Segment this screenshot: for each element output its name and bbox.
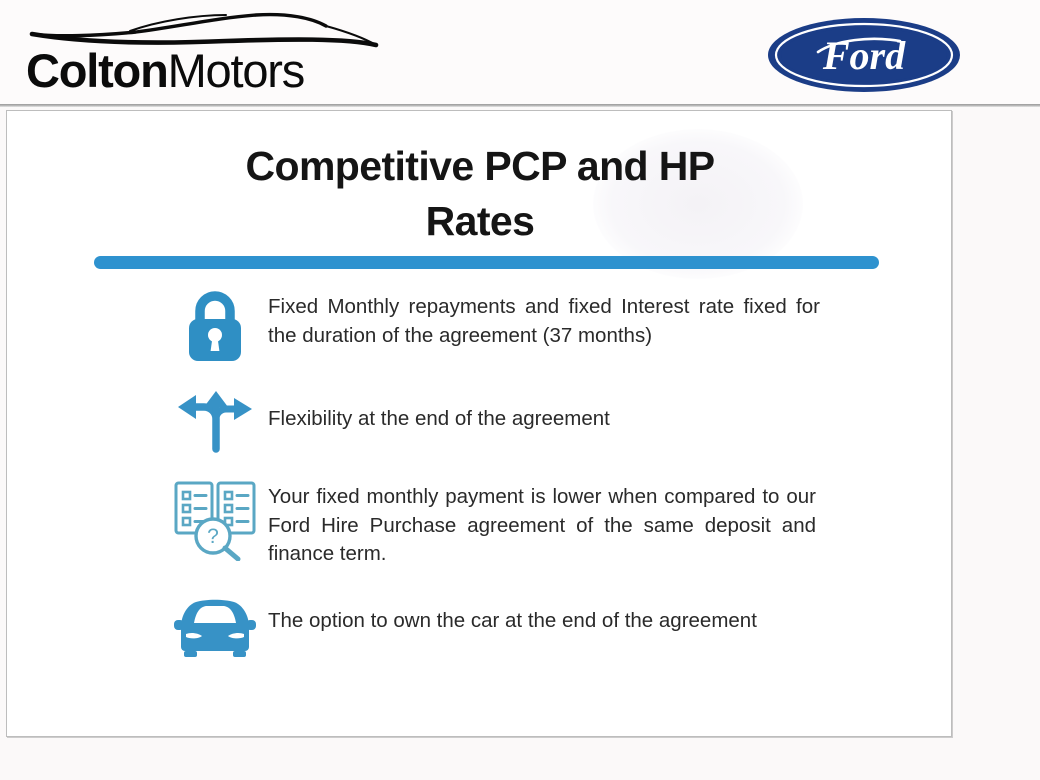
feature-item: ? Your fixed monthly payment is lower wh… [7, 479, 952, 569]
colton-motors-logo: ColtonMotors [26, 8, 386, 100]
feature-item: Fixed Monthly repayments and fixed Inter… [7, 287, 952, 361]
car-front-icon [162, 589, 268, 657]
content-card: Competitive PCP and HP Rates Fixed Month… [6, 110, 952, 737]
feature-text: Fixed Monthly repayments and fixed Inter… [268, 287, 836, 350]
brand-name-light: Motors [168, 44, 304, 97]
page-title-line-2: Rates [67, 194, 893, 249]
feature-list: Fixed Monthly repayments and fixed Inter… [7, 287, 952, 687]
brand-wordmark: ColtonMotors [26, 42, 386, 100]
feature-item: Flexibility at the end of the agreement [7, 385, 952, 457]
three-way-arrows-icon [162, 385, 268, 453]
documents-magnifier-question-icon: ? [162, 479, 268, 561]
header-divider [0, 104, 1040, 107]
feature-text: Flexibility at the end of the agreement [268, 385, 836, 434]
title-underline-bar [94, 256, 879, 269]
svg-text:?: ? [207, 525, 219, 548]
feature-text: Your fixed monthly payment is lower when… [268, 479, 832, 569]
ford-oval-badge-icon: Ford [766, 16, 962, 94]
brand-name-bold: Colton [26, 44, 168, 97]
page-title: Competitive PCP and HP Rates [67, 139, 893, 249]
feature-text: The option to own the car at the end of … [268, 589, 827, 636]
page-title-line-1: Competitive PCP and HP [67, 139, 893, 194]
feature-item: The option to own the car at the end of … [7, 589, 952, 661]
padlock-icon [162, 287, 268, 361]
page-header: ColtonMotors Ford [0, 0, 1040, 105]
